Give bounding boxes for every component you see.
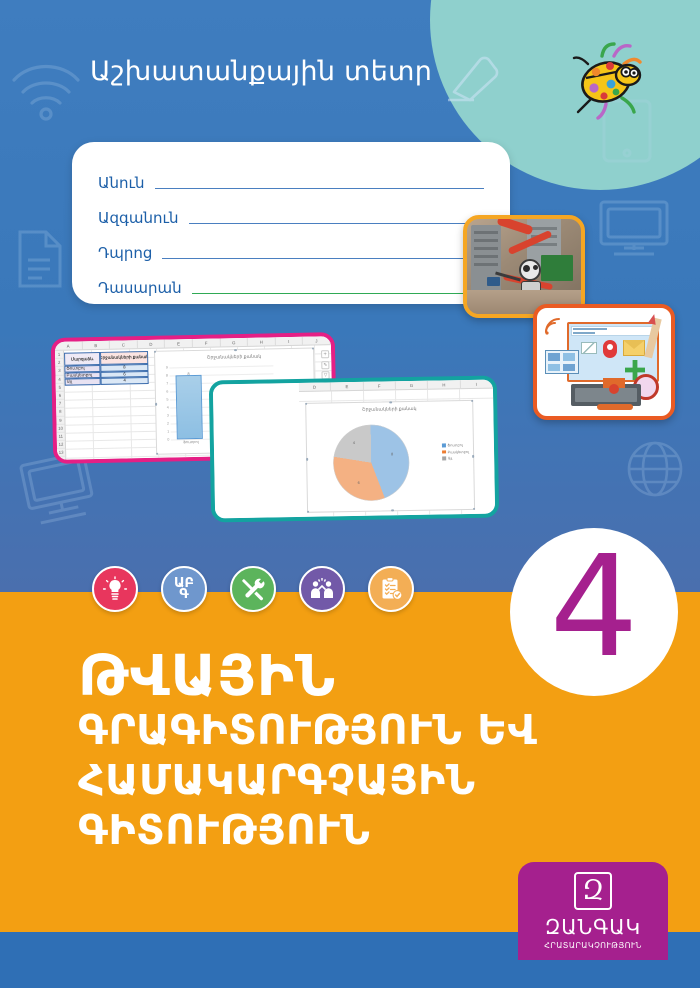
robot-in-computer-photo xyxy=(463,215,585,318)
surname-field-label: Ազգանուն xyxy=(98,211,179,230)
book-cover: Աշխատանքային տետր xyxy=(0,0,700,988)
bar: 8 Ֆուտբոլ xyxy=(176,375,203,439)
title-line-4: ԳԻՏՈՒԹՅՈՒՆ xyxy=(78,805,548,855)
chart-legend: Ֆուտբոլ Բասկետբոլ Այլ xyxy=(442,443,469,463)
row-header: 3 xyxy=(55,367,63,375)
pie-graphic: 8 6 4 xyxy=(333,424,410,501)
column-header: G xyxy=(396,381,428,390)
column-header: C xyxy=(110,340,138,349)
title-line-3: ՀԱՄԱԿԱՐԳՉԱՅԻՆ xyxy=(78,755,548,805)
badge-letters[interactable]: ԱԲԳ xyxy=(161,566,207,612)
table-cell: 4 xyxy=(101,377,149,385)
table-cell: Այլ xyxy=(65,378,101,385)
legend-label: Ֆուտբոլ xyxy=(447,443,462,447)
legend-item: Ֆուտբոլ xyxy=(442,443,469,447)
column-header: D xyxy=(299,382,331,391)
y-tick: 0 xyxy=(167,437,169,441)
publisher-mark-icon: Զ xyxy=(574,872,612,910)
publisher-logo: Զ ԶԱՆԳԱԿ ՀՐԱՏԱՐԱԿՉՈՒԹՅՈՒՆ xyxy=(518,862,668,960)
lightbulb-icon xyxy=(102,576,128,602)
abg-letters-icon: ԱԲԳ xyxy=(174,578,194,600)
row-header: 2 xyxy=(55,359,63,367)
form-row: Ազգանուն xyxy=(98,195,484,230)
class-field-input[interactable] xyxy=(192,293,484,294)
title-line-2: ԳՐԱԳԻՏՈՒԹՅՈՒՆ ԵՎ xyxy=(78,705,548,755)
class-field-label: Դասարան xyxy=(98,281,182,300)
student-info-card: Անուն Ազգանուն Դպրոց Դասարան xyxy=(72,142,510,304)
publisher-name: ԶԱՆԳԱԿ xyxy=(545,915,641,939)
school-field-label: Դպրոց xyxy=(98,246,152,265)
badge-checklist[interactable] xyxy=(368,566,414,612)
form-row: Դպրոց xyxy=(98,230,484,265)
chart-side-buttons[interactable]: + ✎ ▽ xyxy=(321,350,330,382)
column-header: F xyxy=(193,338,221,347)
checklist-icon xyxy=(378,576,404,602)
y-tick: 9 xyxy=(166,365,168,369)
monitor-icon xyxy=(596,196,672,262)
legend-item: Բասկետբոլ xyxy=(442,449,469,453)
pie-value-label: 6 xyxy=(358,481,360,485)
table-header-cell: Շրջանակների քանակ xyxy=(100,351,148,365)
globe-icon xyxy=(624,438,686,500)
badge-tools[interactable] xyxy=(230,566,276,612)
wifi-icon xyxy=(543,316,565,338)
row-header: 1 xyxy=(55,351,63,359)
document-icon xyxy=(12,228,66,290)
badge-lightbulb[interactable] xyxy=(92,566,138,612)
x-tick-label: Ֆուտբոլ xyxy=(171,440,211,445)
row-header: 4 xyxy=(55,375,63,383)
tools-icon xyxy=(240,576,266,602)
y-tick: 8 xyxy=(166,373,168,377)
table-header-cell: Մարզաձև xyxy=(64,352,100,366)
spreadsheet-pie-chart-screenshot: D E F G H I Շրջանակների քանակ 8 xyxy=(209,375,499,522)
surname-field-input[interactable] xyxy=(189,223,484,224)
y-tick: 1 xyxy=(167,429,169,433)
row-header: 11 xyxy=(57,433,65,441)
row-header: 9 xyxy=(56,416,64,424)
form-row: Դասարան xyxy=(98,265,484,300)
name-field-label: Անուն xyxy=(98,176,145,195)
column-header: H xyxy=(428,380,460,389)
row-header: 13 xyxy=(57,449,65,457)
column-header: H xyxy=(248,337,276,346)
row-header: 12 xyxy=(57,441,65,449)
column-header: E xyxy=(165,339,193,348)
row-header: 6 xyxy=(56,392,64,400)
chart-styles-button[interactable]: ✎ xyxy=(321,361,329,369)
column-header: J xyxy=(303,336,331,345)
school-field-input[interactable] xyxy=(162,258,484,259)
legend-label: Բասկետբոլ xyxy=(448,449,469,453)
chart-elements-button[interactable]: + xyxy=(321,350,329,358)
y-tick: 6 xyxy=(166,389,168,393)
column-header: I xyxy=(460,380,492,389)
chart-title: Շրջանակների քանակ xyxy=(306,405,472,414)
activity-icon-row: ԱԲԳ xyxy=(92,566,414,612)
row-header: 10 xyxy=(57,424,65,432)
y-tick: 2 xyxy=(167,421,169,425)
column-header: G xyxy=(220,338,248,347)
pie-value-label: 4 xyxy=(353,441,355,445)
title-line-1: ԹՎԱՅԻՆ xyxy=(78,648,548,705)
column-header: I xyxy=(275,337,303,346)
chart-title: Շրջանակների քանակ xyxy=(155,352,313,361)
teamwork-icon xyxy=(309,576,335,602)
book-title: ԹՎԱՅԻՆ ԳՐԱԳԻՏՈՒԹՅՈՒՆ ԵՎ ՀԱՄԱԿԱՐԳՉԱՅԻՆ ԳԻ… xyxy=(78,648,548,855)
row-header: 8 xyxy=(56,408,64,416)
publisher-mark-letter: Զ xyxy=(582,877,604,904)
legend-label: Այլ xyxy=(448,456,453,460)
column-header: E xyxy=(331,382,363,391)
y-tick: 5 xyxy=(166,397,168,401)
form-row: Անուն xyxy=(98,160,484,195)
column-header: A xyxy=(55,341,83,350)
row-header: 5 xyxy=(56,383,64,391)
column-header: D xyxy=(138,340,166,349)
y-tick: 4 xyxy=(167,405,169,409)
grade-number: 4 xyxy=(549,538,638,678)
y-tick: 7 xyxy=(166,381,168,385)
page-title: Աշխատանքային տետր xyxy=(90,56,432,87)
row-header: 7 xyxy=(56,400,64,408)
column-header: B xyxy=(82,341,110,350)
eraser-icon xyxy=(440,52,502,108)
legend-item: Այլ xyxy=(443,456,470,460)
ladybug-icon xyxy=(566,42,652,124)
pie-value-label: 8 xyxy=(391,452,393,456)
publisher-subtitle: ՀՐԱՏԱՐԱԿՉՈՒԹՅՈՒՆ xyxy=(544,941,642,950)
web-workspace-illustration xyxy=(533,304,675,420)
bar-value-label: 8 xyxy=(176,371,200,376)
column-header: F xyxy=(363,381,395,390)
y-tick: 3 xyxy=(167,413,169,417)
embedded-pie-chart[interactable]: Շրջանակների քանակ 8 6 4 Ֆուտբոլ Բասկետբո… xyxy=(305,400,475,513)
badge-teamwork[interactable] xyxy=(299,566,345,612)
name-field-input[interactable] xyxy=(155,188,484,189)
wifi-icon xyxy=(8,58,84,124)
